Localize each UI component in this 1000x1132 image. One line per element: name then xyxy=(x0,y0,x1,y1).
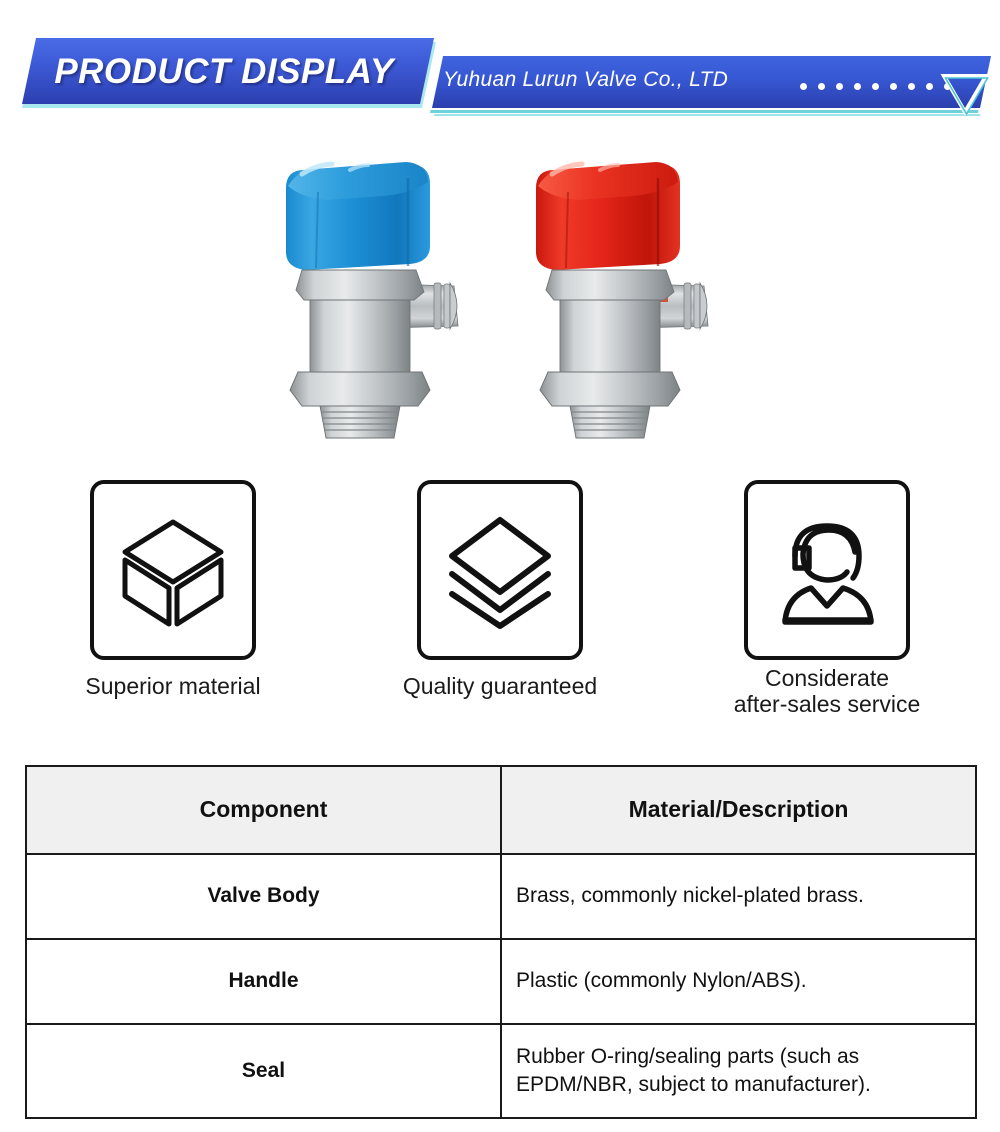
table-row: Seal Rubber O-ring/sealing parts (such a… xyxy=(26,1024,976,1118)
table-cell-description: Rubber O-ring/sealing parts (such as EPD… xyxy=(501,1024,976,1118)
table-cell-description: Brass, commonly nickel-plated brass. xyxy=(501,854,976,939)
feature-label: Superior material xyxy=(23,674,323,700)
feature-item-after-sales-service: Considerate after-sales service xyxy=(744,480,977,718)
angle-valve-blue xyxy=(258,150,483,440)
header-dots-decoration xyxy=(800,83,951,90)
table-header-description: Material/Description xyxy=(501,766,976,854)
table-cell-description: Plastic (commonly Nylon/ABS). xyxy=(501,939,976,1024)
feature-icon-box xyxy=(90,480,256,660)
table-row: Handle Plastic (commonly Nylon/ABS). xyxy=(26,939,976,1024)
cube-box-icon xyxy=(117,510,229,630)
company-name: Yuhuan Lurun Valve Co., LTD xyxy=(443,68,728,92)
product-image-area xyxy=(0,140,1000,450)
header-bar-underline-secondary xyxy=(434,114,980,116)
page-header: PRODUCT DISPLAY Yuhuan Lurun Valve Co., … xyxy=(0,0,1000,140)
customer-service-agent-icon xyxy=(771,510,883,630)
table-header-row: Component Material/Description xyxy=(26,766,976,854)
table-cell-component: Handle xyxy=(26,939,501,1024)
feature-label: Quality guaranteed xyxy=(350,674,650,700)
specification-table: Component Material/Description Valve Bod… xyxy=(25,765,977,1119)
header-bar-underline xyxy=(430,110,979,113)
feature-highlights: Superior material Quality guaranteed xyxy=(0,470,1000,740)
layers-stack-icon xyxy=(444,510,556,630)
table-cell-component: Valve Body xyxy=(26,854,501,939)
table-cell-component: Seal xyxy=(26,1024,501,1118)
angle-valve-red xyxy=(508,150,733,440)
feature-icon-box xyxy=(744,480,910,660)
page-title: PRODUCT DISPLAY xyxy=(34,44,414,100)
table-row: Valve Body Brass, commonly nickel-plated… xyxy=(26,854,976,939)
triangle-down-icon xyxy=(938,72,992,116)
feature-item-superior-material: Superior material xyxy=(90,480,323,700)
feature-icon-box xyxy=(417,480,583,660)
feature-item-quality-guaranteed: Quality guaranteed xyxy=(417,480,650,700)
feature-label: Considerate after-sales service xyxy=(677,666,977,718)
table-header-component: Component xyxy=(26,766,501,854)
